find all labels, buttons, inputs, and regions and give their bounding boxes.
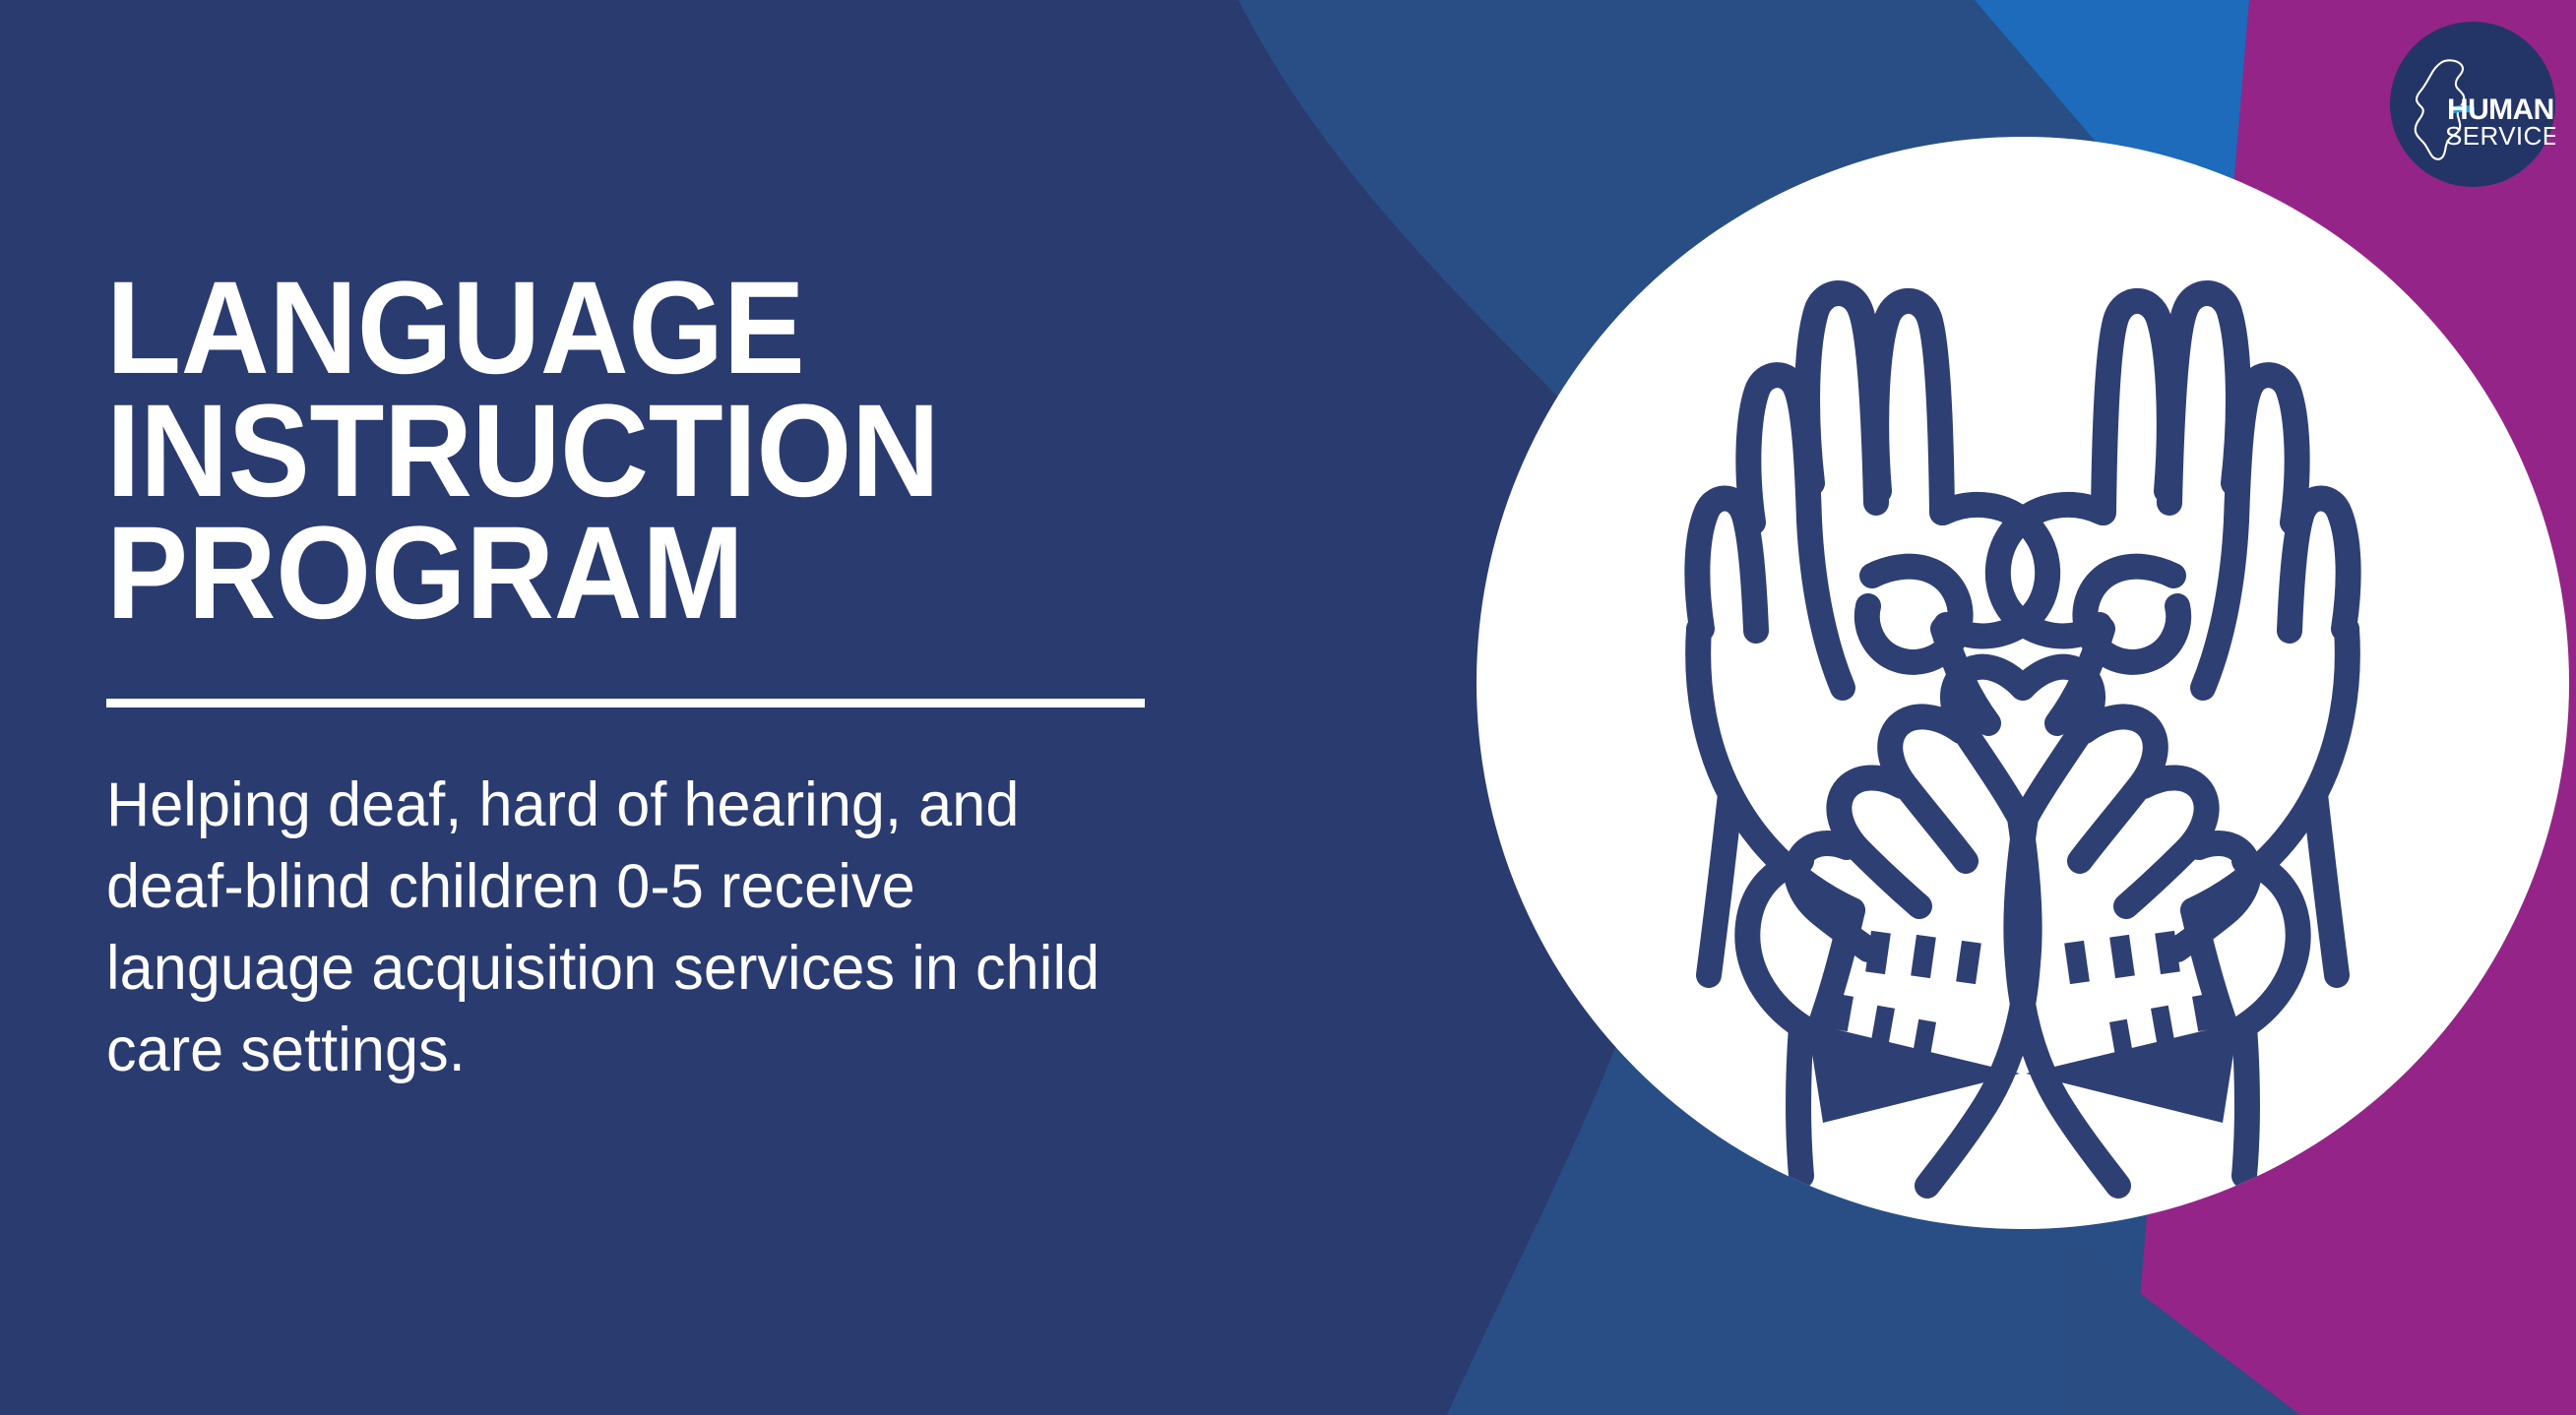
nj-human-services-logo[interactable]: HUMAN SERVICES [2390,22,2555,187]
signing-hands-icon [1476,137,2569,1229]
text-block: LANGUAGE INSTRUCTION PROGRAM Helping dea… [106,268,1209,1091]
logo-word-services: SERVICES [2445,121,2555,151]
signing-hands-artwork [1476,137,2569,1229]
page-title: LANGUAGE INSTRUCTION PROGRAM [106,268,1132,636]
poster-canvas: LANGUAGE INSTRUCTION PROGRAM Helping dea… [0,0,2576,1415]
divider-rule [106,699,1145,707]
page-subtitle: Helping deaf, hard of hearing, and deaf-… [106,765,1138,1092]
